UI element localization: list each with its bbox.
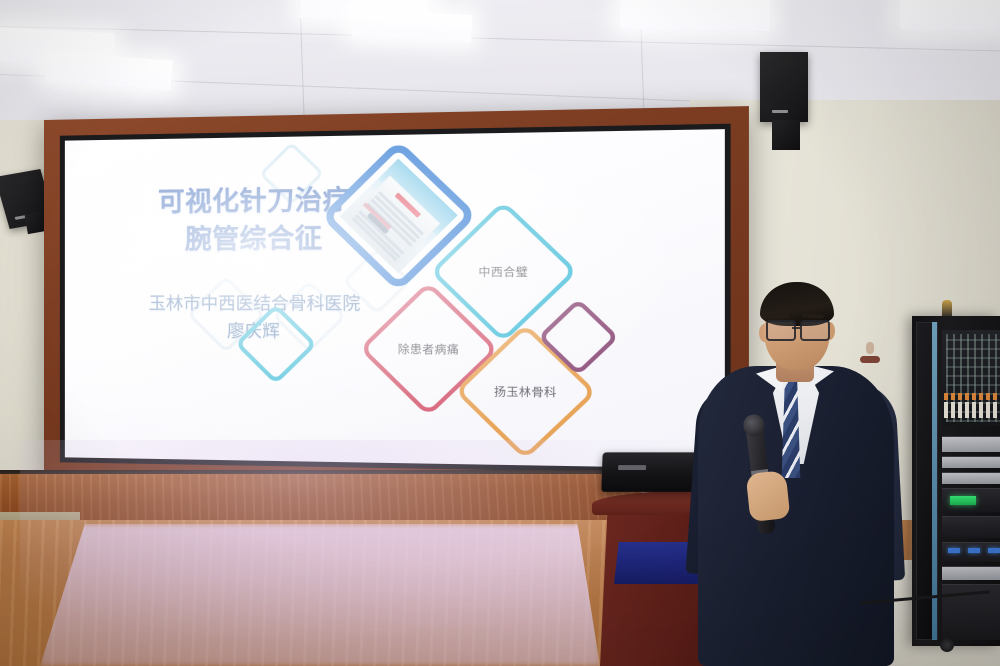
nose <box>866 342 874 354</box>
rack-lcd-display <box>950 496 976 505</box>
projection-screen-bezel: 可视化针刀治疗 腕管综合征 玉林市中西医结合骨科医院 廖庆辉 <box>60 124 731 475</box>
hand-holding-microphone <box>746 470 791 522</box>
projection-screen-frame: 可视化针刀治疗 腕管综合征 玉林市中西医结合骨科医院 廖庆辉 <box>44 106 749 494</box>
ceiling-light-2 <box>45 52 173 91</box>
rack-unit-3 <box>942 472 1000 484</box>
diamond-label-zhongxi-hebi: 中西合璧 <box>455 225 551 318</box>
mouth <box>860 356 880 363</box>
rack-unit-5-amplifier <box>942 516 1000 538</box>
presenter <box>690 282 900 666</box>
diamond-label-chu-huanzhe-bingtong: 除患者病痛 <box>383 305 473 393</box>
rack-led-2 <box>968 548 980 553</box>
floor-screen-reflection <box>40 524 600 666</box>
ceiling-light-5 <box>620 0 771 31</box>
rack-unit-7-power <box>942 566 1000 580</box>
rack-led-1 <box>948 548 960 553</box>
slide-subtitle-line1: 玉林市中西医结合骨科医院 <box>90 289 424 317</box>
laptop-logo <box>618 465 646 470</box>
rack-door-edge <box>932 322 937 640</box>
mixing-console <box>942 330 1000 426</box>
ceiling-speaker-right-icon <box>760 52 808 122</box>
presentation-scene-photo: 可视化针刀治疗 腕管综合征 玉林市中西医结合骨科医院 廖庆辉 <box>0 0 1000 666</box>
eyeglasses-left-lens <box>766 320 796 341</box>
mixer-knob-row <box>944 393 1000 400</box>
ceiling-speaker-right-sub-icon <box>772 120 800 150</box>
eyeglasses-bridge <box>792 327 800 329</box>
rack-unit-2 <box>942 456 1000 468</box>
eyeglasses-right-lens <box>800 320 830 341</box>
rack-unit-1 <box>942 436 1000 452</box>
rack-led-3 <box>988 548 1000 553</box>
ceiling-light-4 <box>351 9 472 43</box>
rack-caster-wheel <box>940 638 954 652</box>
diamond-label-yang-yulin-guke: 扬玉林骨科 <box>479 347 571 436</box>
mixer-fader-row <box>944 402 1000 418</box>
ceiling-light-6 <box>900 0 1000 31</box>
projected-slide: 可视化针刀治疗 腕管综合征 玉林市中西医结合骨科医院 廖庆辉 <box>65 129 725 469</box>
